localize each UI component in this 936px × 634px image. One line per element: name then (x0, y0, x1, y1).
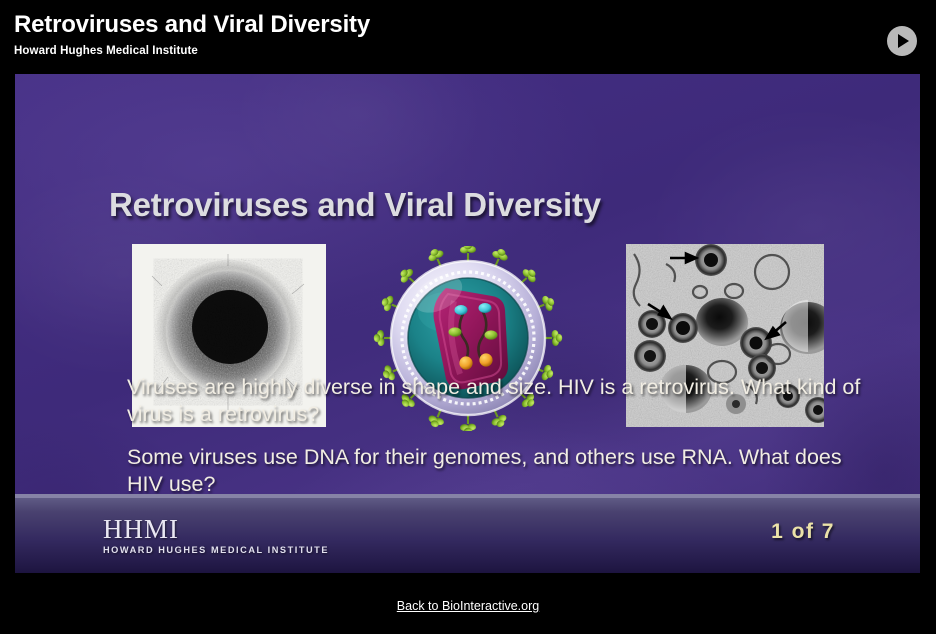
play-triangle (898, 34, 909, 48)
body-paragraph: Viruses are highly diverse in shape and … (127, 374, 867, 427)
page-counter: 1 of 7 (771, 520, 835, 544)
slide-title: Retroviruses and Viral Diversity (109, 186, 601, 224)
play-icon[interactable] (887, 26, 917, 56)
slide-canvas: Retroviruses and Viral Diversity (15, 74, 920, 573)
body-paragraph: Some viruses use DNA for their genomes, … (127, 444, 867, 497)
presentation-viewer: Retroviruses and Viral Diversity Howard … (0, 0, 936, 634)
header-bar: Retroviruses and Viral Diversity Howard … (0, 0, 936, 74)
slide-footer: HHMI HOWARD HUGHES MEDICAL INSTITUTE 1 o… (15, 494, 920, 573)
back-to-biointeractive-link[interactable]: Back to BioInteractive.org (397, 599, 539, 613)
hhmi-logo-mark: HHMI (103, 515, 329, 544)
header-subtitle: Howard Hughes Medical Institute (14, 45, 198, 57)
slide-body-text: Viruses are highly diverse in shape and … (127, 374, 867, 497)
hhmi-logo-text: HOWARD HUGHES MEDICAL INSTITUTE (103, 545, 329, 555)
header-title: Retroviruses and Viral Diversity (14, 11, 370, 39)
bottom-bar: Back to BioInteractive.org (0, 573, 936, 634)
hhmi-logo: HHMI HOWARD HUGHES MEDICAL INSTITUTE (103, 515, 329, 555)
